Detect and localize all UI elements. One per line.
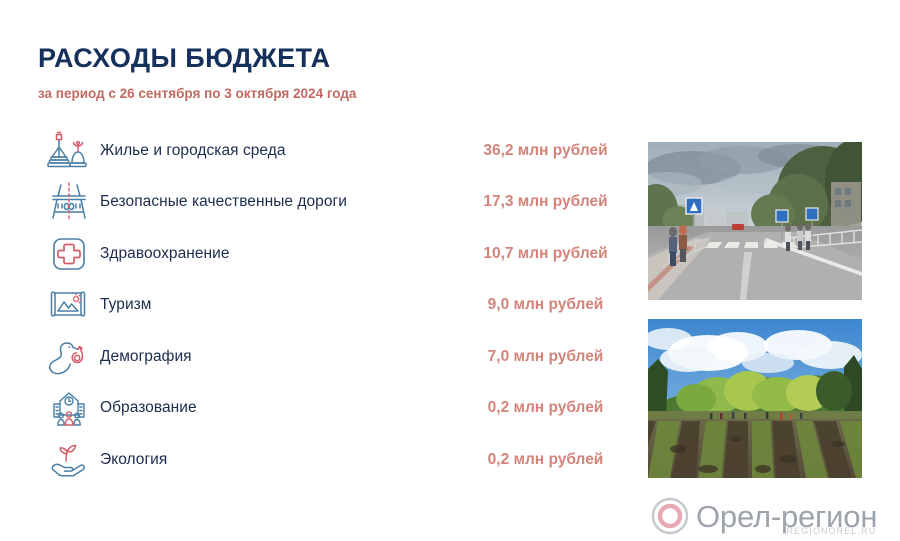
tourism-map-icon xyxy=(38,282,100,328)
list-item-label: Туризм xyxy=(100,296,152,314)
list-item-label: Образование xyxy=(100,399,197,417)
list-item-label: Здравоохранение xyxy=(100,245,230,263)
list-item-label: Демография xyxy=(100,348,192,366)
education-school-icon xyxy=(38,385,100,431)
list-item: Безопасные качественные дороги 17,3 млн … xyxy=(38,177,623,229)
brand-logo[interactable]: Орел-регион REGIONOREL.RU xyxy=(651,497,877,535)
list-item-value: 0,2 млн рублей xyxy=(468,399,623,417)
list-item-value: 36,2 млн рублей xyxy=(468,142,623,160)
list-item: Демография 7,0 млн рублей xyxy=(38,331,623,383)
list-item: Экология 0,2 млн рублей xyxy=(38,434,623,486)
list-item: Жилье и городская среда 36,2 млн рублей xyxy=(38,125,623,177)
logo-site: REGIONOREL.RU xyxy=(786,526,876,536)
list-item-value: 9,0 млн рублей xyxy=(468,296,623,314)
photo-forest xyxy=(648,319,862,478)
list-item: Здравоохранение 10,7 млн рублей xyxy=(38,228,623,280)
list-item-label: Безопасные качественные дороги xyxy=(100,193,347,211)
healthcare-cross-icon xyxy=(38,231,100,277)
header: РАСХОДЫ БЮДЖЕТА за период с 26 сентября … xyxy=(38,44,356,101)
photo-street xyxy=(648,142,862,300)
budget-expenses-list: Жилье и городская среда 36,2 млн рублей xyxy=(38,125,623,486)
list-item-value: 7,0 млн рублей xyxy=(468,348,623,366)
roads-icon xyxy=(38,179,100,225)
slide-root: РАСХОДЫ БЮДЖЕТА за период с 26 сентября … xyxy=(0,0,900,541)
list-item-label: Экология xyxy=(100,451,167,469)
list-item-value: 17,3 млн рублей xyxy=(468,193,623,211)
list-item: Образование 0,2 млн рублей xyxy=(38,383,623,435)
logo-circle-icon xyxy=(651,497,689,535)
logo-text-wrap: Орел-регион REGIONOREL.RU xyxy=(696,501,877,532)
demography-stork-icon xyxy=(38,334,100,380)
housing-urban-icon xyxy=(38,128,100,174)
page-subtitle: за период с 26 сентября по 3 октября 202… xyxy=(38,86,356,101)
ecology-sprout-icon xyxy=(38,437,100,483)
list-item-value: 10,7 млн рублей xyxy=(468,245,623,263)
list-item: Туризм 9,0 млн рублей xyxy=(38,280,623,332)
page-title: РАСХОДЫ БЮДЖЕТА xyxy=(38,44,356,74)
list-item-value: 0,2 млн рублей xyxy=(468,451,623,469)
list-item-label: Жилье и городская среда xyxy=(100,142,286,160)
